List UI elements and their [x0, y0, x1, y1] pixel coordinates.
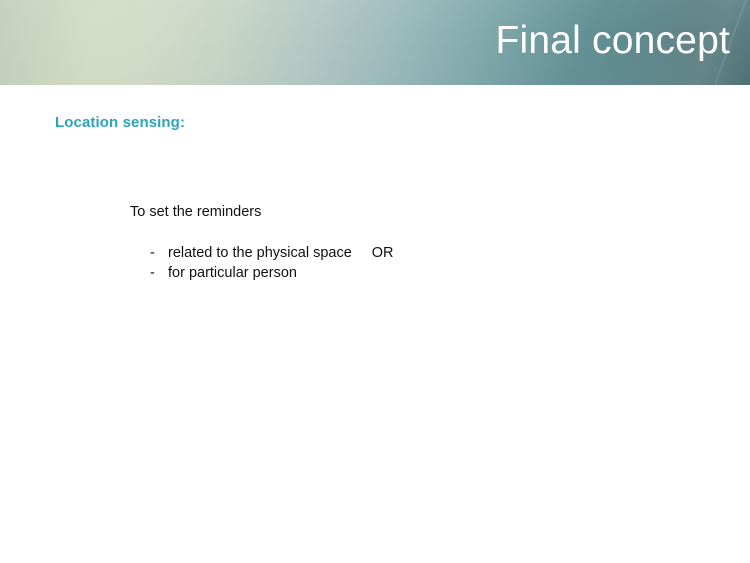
slide-body: Location sensing: To set the reminders -… [0, 85, 750, 563]
lead-text: To set the reminders [130, 204, 261, 220]
dash-marker-icon: - [150, 243, 168, 263]
section-heading: Location sensing: [55, 114, 185, 131]
list-item: -for particular person [150, 263, 394, 283]
list-item-suffix [297, 265, 317, 281]
page-title: Final concept [495, 18, 730, 64]
list-item-suffix: OR [352, 245, 394, 261]
list-item: -related to the physical spaceOR [150, 243, 394, 263]
slide-header-banner: Final concept [0, 0, 750, 85]
slide: Final concept Location sensing: To set t… [0, 0, 750, 563]
dash-marker-icon: - [150, 263, 168, 283]
list-item-label: related to the physical space [168, 245, 352, 261]
dash-list: -related to the physical spaceOR -for pa… [150, 243, 394, 283]
list-item-label: for particular person [168, 265, 297, 281]
